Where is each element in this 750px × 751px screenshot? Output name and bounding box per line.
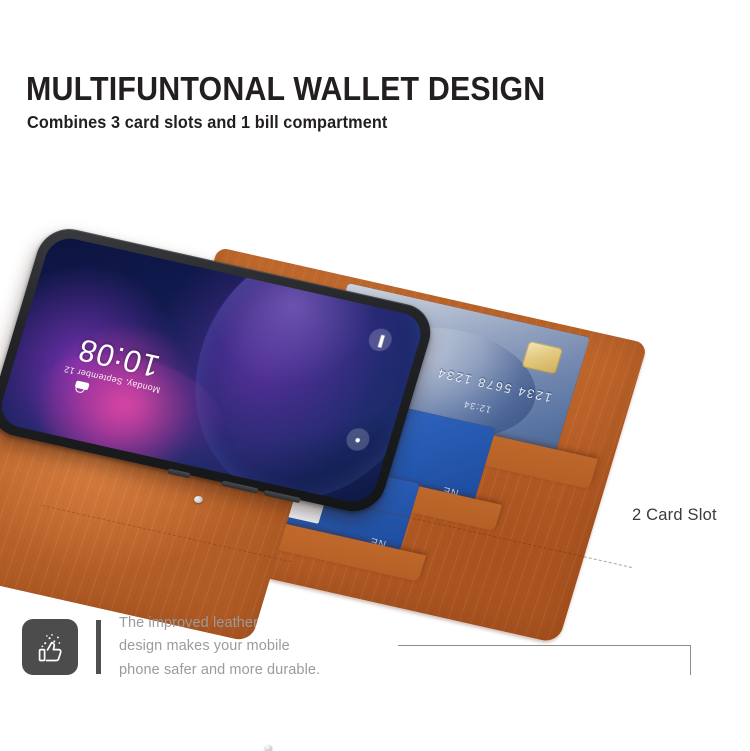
footer-line-1: The improved leather <box>119 612 320 635</box>
footer-divider <box>96 620 101 674</box>
product-photo: 1234 5678 1234 12:34 00/00 1234 5678 NE … <box>0 175 750 600</box>
leather-wallet-case: 1234 5678 1234 12:34 00/00 1234 5678 NE … <box>18 205 658 595</box>
callout-leader-vertical <box>690 645 691 675</box>
footer-note: The improved leather design makes your m… <box>22 612 320 682</box>
callout-label-card-slot: 2 Card Slot <box>632 506 717 525</box>
callout-leader-horizontal <box>398 645 690 646</box>
footer-line-3: phone safer and more durable. <box>119 659 320 682</box>
thumbs-up-icon <box>22 619 78 675</box>
lock-icon <box>73 380 89 394</box>
footer-text: The improved leather design makes your m… <box>119 612 320 682</box>
metal-rivet <box>194 496 203 503</box>
footer-line-2: design makes your mobile <box>119 635 320 658</box>
page-subtitle: Combines 3 card slots and 1 bill compart… <box>27 112 387 133</box>
metal-rivet <box>265 745 272 751</box>
page-title: MULTIFUNTONAL WALLET DESIGN <box>26 70 545 108</box>
